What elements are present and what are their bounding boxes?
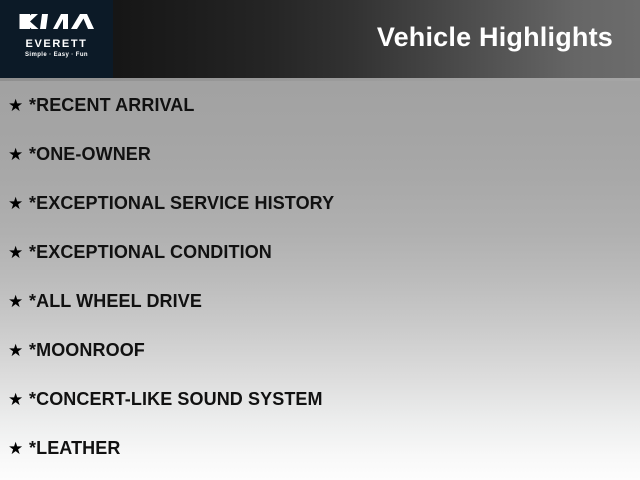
highlights-panel: ★*RECENT ARRIVAL★*ONE-OWNER★*EXCEPTIONAL… bbox=[0, 81, 640, 480]
list-item: ★*EXCEPTIONAL SERVICE HISTORY bbox=[0, 179, 640, 228]
dealer-tagline: Simple · Easy · Fun bbox=[25, 51, 88, 59]
highlight-label: *LEATHER bbox=[29, 438, 120, 459]
star-bullet-icon: ★ bbox=[8, 342, 29, 359]
star-bullet-icon: ★ bbox=[8, 440, 29, 457]
star-bullet-icon: ★ bbox=[8, 97, 29, 114]
star-bullet-icon: ★ bbox=[8, 391, 29, 408]
kia-logo-icon bbox=[18, 11, 96, 32]
star-bullet-icon: ★ bbox=[8, 195, 29, 212]
highlight-label: *MOONROOF bbox=[29, 340, 145, 361]
highlight-label: *ALL WHEEL DRIVE bbox=[29, 291, 202, 312]
vehicle-highlights-slide: EVERETT Simple · Easy · Fun Vehicle High… bbox=[0, 0, 640, 480]
list-item: ★*CONCERT-LIKE SOUND SYSTEM bbox=[0, 375, 640, 424]
highlight-label: *CONCERT-LIKE SOUND SYSTEM bbox=[29, 389, 323, 410]
dealer-name: EVERETT bbox=[26, 38, 88, 50]
star-bullet-icon: ★ bbox=[8, 244, 29, 261]
list-item: ★*ALL WHEEL DRIVE bbox=[0, 277, 640, 326]
highlights-list: ★*RECENT ARRIVAL★*ONE-OWNER★*EXCEPTIONAL… bbox=[0, 81, 640, 473]
list-item: ★*MOONROOF bbox=[0, 326, 640, 375]
list-item: ★*RECENT ARRIVAL bbox=[0, 81, 640, 130]
star-bullet-icon: ★ bbox=[8, 146, 29, 163]
highlight-label: *RECENT ARRIVAL bbox=[29, 95, 195, 116]
star-bullet-icon: ★ bbox=[8, 293, 29, 310]
page-title: Vehicle Highlights bbox=[377, 21, 613, 53]
list-item: ★*LEATHER bbox=[0, 424, 640, 473]
list-item: ★*EXCEPTIONAL CONDITION bbox=[0, 228, 640, 277]
highlight-label: *EXCEPTIONAL CONDITION bbox=[29, 242, 272, 263]
list-item: ★*ONE-OWNER bbox=[0, 130, 640, 179]
highlight-label: *ONE-OWNER bbox=[29, 144, 151, 165]
dealer-logo-panel: EVERETT Simple · Easy · Fun bbox=[0, 0, 113, 78]
highlight-label: *EXCEPTIONAL SERVICE HISTORY bbox=[29, 193, 334, 214]
